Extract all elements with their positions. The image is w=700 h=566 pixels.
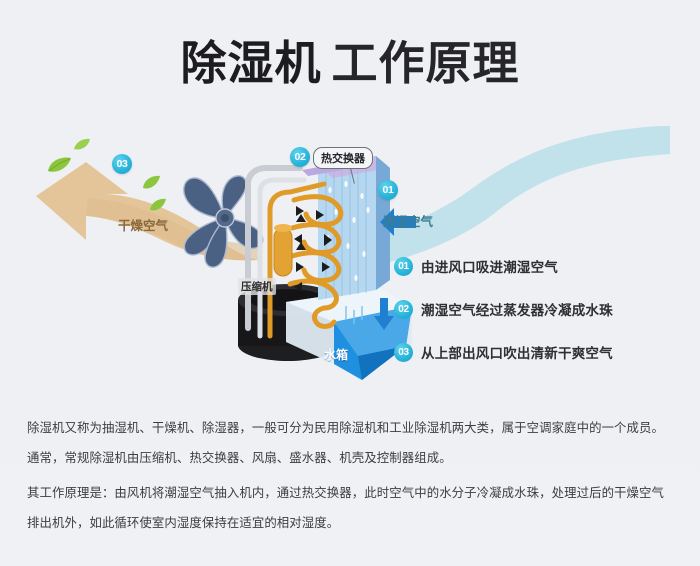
legend-text-01: 由进风口吸进潮湿空气 (421, 256, 558, 276)
paragraph-1-line-2: 通常，常规除湿机由压缩机、热交换器、风扇、盛水器、机壳及控制器组成。 (27, 448, 675, 469)
leaf-icon (148, 198, 167, 213)
legend-badge-02: 02 (394, 300, 413, 319)
legend-text-03: 从上部出风口吹出清新干爽空气 (421, 342, 613, 362)
leaf-icon (46, 156, 72, 174)
legend-item: 02 潮湿空气经过蒸发器冷凝成水珠 (394, 299, 694, 319)
paragraph-2-line-2: 排出机外，如此循环使室内湿度保持在适宜的相对湿度。 (27, 513, 675, 534)
dehumidifier-infographic: 除湿机工作原理 (0, 0, 700, 566)
legend-item: 03 从上部出风口吹出清新干爽空气 (394, 342, 694, 362)
diagram-badge-03: 03 (112, 154, 132, 174)
diagram-badge-01: 01 (378, 180, 398, 200)
page-title-part2: 工作原理 (332, 37, 520, 89)
heat-exchanger-callout: 热交换器 (313, 147, 373, 169)
water-tank-label: 水箱 (324, 346, 348, 363)
body-copy: 除湿机又称为抽湿机、干燥机、除湿器，一般可分为民用除湿机和工业除湿机两大类，属于… (27, 418, 675, 543)
legend-badge-03: 03 (394, 343, 413, 362)
legend-badge-01: 01 (394, 257, 413, 276)
leaf-icon (73, 138, 91, 152)
dry-air-label: 干燥空气 (118, 215, 168, 234)
legend-item: 01 由进风口吸进潮湿空气 (394, 256, 694, 276)
page-title: 除湿机工作原理 (0, 34, 700, 92)
compressor-label: 压缩机 (238, 278, 276, 295)
leaf-icon (141, 175, 161, 191)
paragraph-1-line-1: 除湿机又称为抽湿机、干燥机、除湿器，一般可分为民用除湿机和工业除湿机两大类，属于… (27, 418, 675, 439)
legend-text-02: 潮湿空气经过蒸发器冷凝成水珠 (421, 299, 613, 319)
legend-list: 01 由进风口吸进潮湿空气 02 潮湿空气经过蒸发器冷凝成水珠 03 从上部出风… (394, 256, 694, 385)
humid-air-label: 潮湿空气 (383, 211, 433, 230)
diagram-badge-02: 02 (290, 147, 310, 167)
paragraph-2-line-1: 其工作原理是：由风机将潮湿空气抽入机内，通过热交换器，此时空气中的水分子冷凝成水… (27, 483, 675, 504)
page-title-part1: 除湿机 (181, 37, 322, 89)
